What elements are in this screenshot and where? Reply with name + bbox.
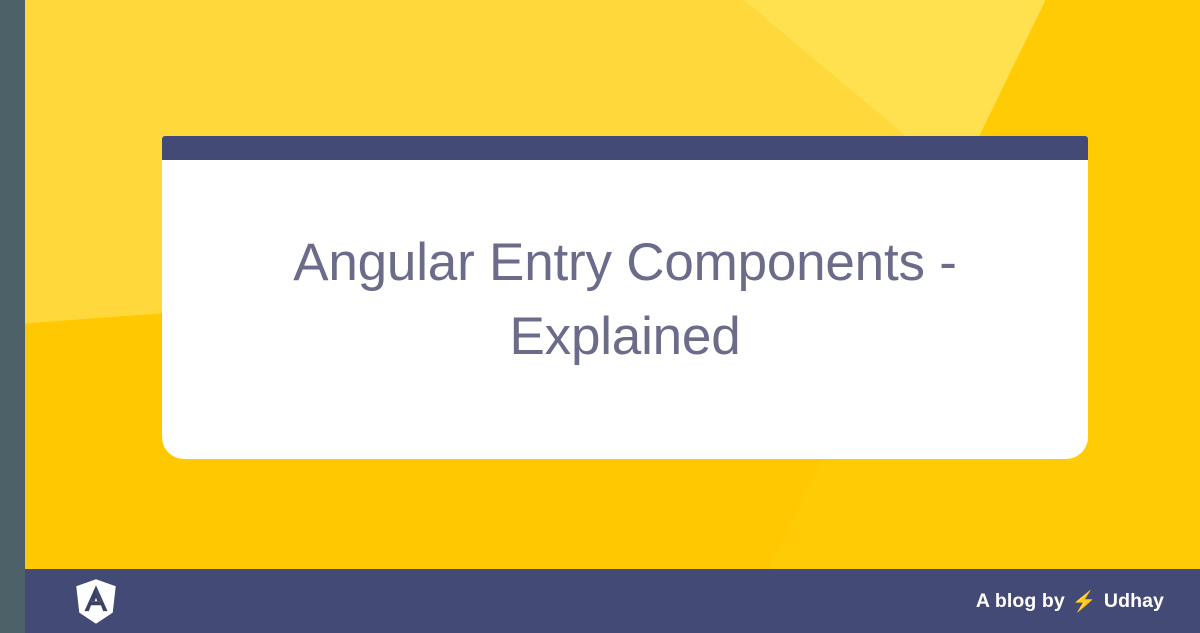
- lightning-bolt-icon: ⚡: [1072, 592, 1097, 612]
- title-card: Angular Entry Components - Explained: [162, 136, 1088, 459]
- left-edge-strip: [0, 0, 25, 633]
- card-top-accent-bar: [162, 136, 1088, 160]
- footer-credit-prefix: A blog by: [976, 590, 1065, 613]
- angular-shield-icon: [75, 579, 117, 624]
- card-body: Angular Entry Components - Explained: [162, 160, 1088, 459]
- footer-bar: A blog by ⚡ Udhay: [25, 569, 1200, 633]
- footer-credit: A blog by ⚡ Udhay: [976, 590, 1164, 613]
- footer-author-name: Udhay: [1104, 590, 1164, 613]
- open-graph-card: Angular Entry Components - Explained A b…: [0, 0, 1200, 633]
- page-title: Angular Entry Components - Explained: [245, 226, 1005, 372]
